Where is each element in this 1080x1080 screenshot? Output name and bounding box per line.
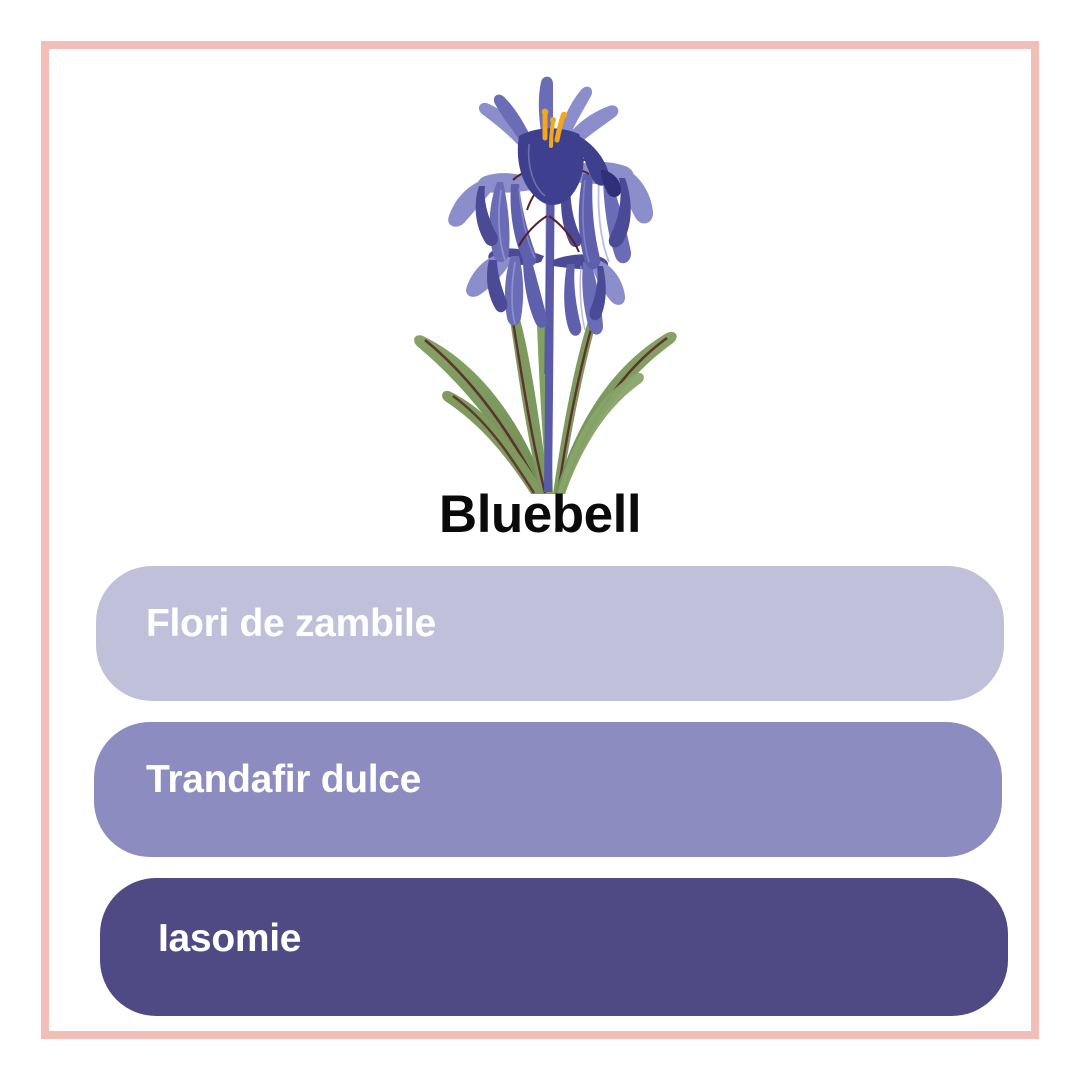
bell-mid-left xyxy=(448,173,541,266)
answer-option-2[interactable]: Trandafir dulce xyxy=(94,722,1002,857)
answer-option-2-label: Trandafir dulce xyxy=(146,760,421,799)
flashcard-frame: Bluebell Flori de zambile Trandafir dulc… xyxy=(41,41,1039,1039)
answer-options-list: Flori de zambile Trandafir dulce Iasomie xyxy=(96,566,1006,1037)
bluebell-flower-illustration xyxy=(403,74,693,494)
answer-option-3-label: Iasomie xyxy=(158,919,301,958)
answer-option-3[interactable]: Iasomie xyxy=(100,878,1008,1016)
answer-option-1[interactable]: Flori de zambile xyxy=(96,566,1004,701)
answer-option-1-label: Flori de zambile xyxy=(146,604,436,643)
page-title: Bluebell xyxy=(49,488,1031,541)
